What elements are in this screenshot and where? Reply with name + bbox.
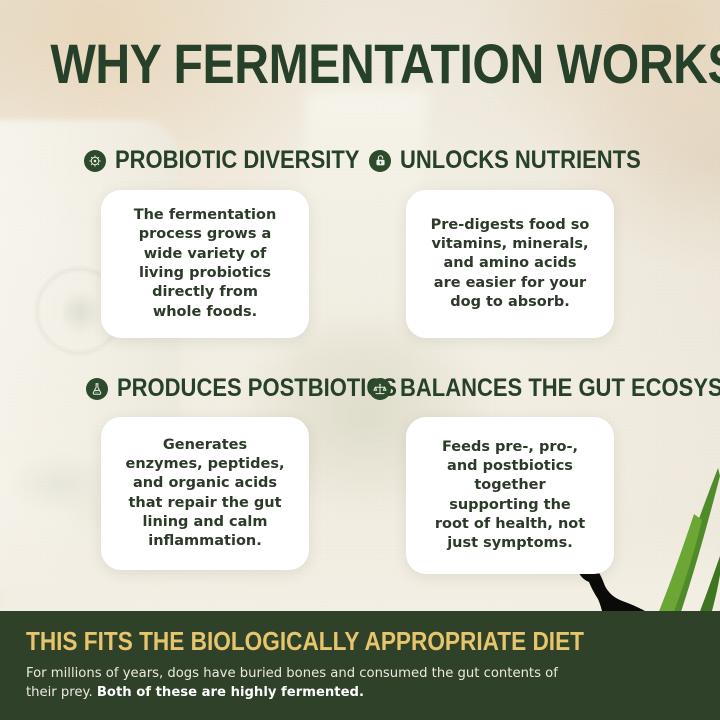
lab-flask-icon	[86, 378, 108, 400]
feature-heading-label: BALANCES THE GUT ECOSYSTEM	[400, 376, 720, 401]
feature-card-unlocks-nutrients: Pre-digests food so vitamins, minerals, …	[406, 190, 614, 338]
feature-card-body: The fermentation process grows a wide va…	[134, 206, 277, 322]
feature-card-produces-postbiotics: Generates enzymes, peptides, and organic…	[101, 417, 309, 570]
feature-card-body: Pre-digests food so vitamins, minerals, …	[431, 216, 590, 312]
feature-heading-balances-gut-ecosystem: BALANCES THE GUT ECOSYSTEM	[369, 376, 720, 401]
feature-card-balances-gut-ecosystem: Feeds pre-, pro-, and postbiotics togeth…	[406, 417, 614, 574]
footer-body-bold: Both of these are highly fermented.	[97, 685, 364, 700]
feature-card-probiotic-diversity: The fermentation process grows a wide va…	[101, 190, 309, 338]
balance-scale-icon	[369, 378, 391, 400]
feature-heading-label: PROBIOTIC DIVERSITY	[115, 148, 359, 173]
feature-card-body: Generates enzymes, peptides, and organic…	[125, 436, 284, 552]
feature-card-body: Feeds pre-, pro-, and postbiotics togeth…	[435, 438, 585, 554]
padlock-unlock-icon	[369, 150, 391, 172]
footer-banner: THIS FITS THE BIOLOGICALLY APPROPRIATE D…	[0, 611, 720, 720]
page-title: WHY FERMENTATION WORKS	[50, 36, 669, 92]
feature-heading-probiotic-diversity: PROBIOTIC DIVERSITY	[84, 148, 393, 173]
footer-title: THIS FITS THE BIOLOGICALLY APPROPRIATE D…	[26, 628, 607, 654]
infographic-canvas: WHY FERMENTATION WORKS PROBIOTIC DIVERSI…	[0, 0, 720, 720]
microbe-icon	[84, 150, 106, 172]
feature-heading-label: UNLOCKS NUTRIENTS	[400, 148, 641, 173]
feature-heading-unlocks-nutrients: UNLOCKS NUTRIENTS	[369, 148, 674, 173]
footer-body: For millions of years, dogs have buried …	[26, 665, 586, 702]
feature-heading-label: PRODUCES POSTBIOTICS	[117, 376, 397, 401]
